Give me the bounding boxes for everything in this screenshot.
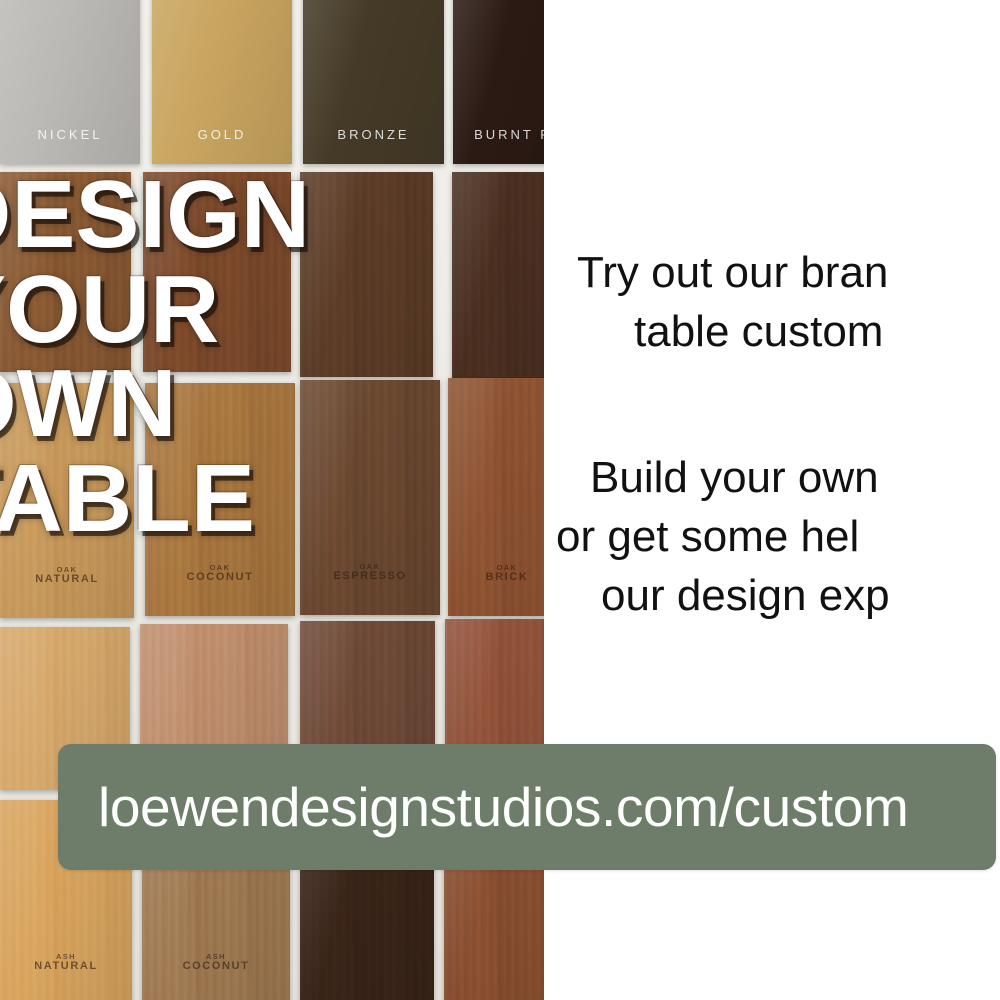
swatch-label-species: ASH	[0, 953, 132, 961]
swatch-label: OAKNATURAL	[0, 566, 134, 585]
headline-overlay: DESIGNYOUROWNTABLE	[0, 168, 402, 546]
copy1-line-1: Try out our bran	[544, 243, 1000, 302]
swatch-label: GOLD	[152, 128, 292, 142]
swatch-wood-row-3-4-oak-brick: OAKBRICK	[448, 378, 544, 616]
swatch-metal-row-2-gold: GOLD	[152, 0, 292, 164]
swatch-label-species: OAK	[300, 563, 440, 571]
swatch-label: OAKBRICK	[448, 564, 544, 583]
swatch-label-species: OAK	[0, 566, 134, 574]
headline-line-3: OWN	[0, 357, 402, 452]
swatch-metal-row-4-burnt-p: BURNT P	[453, 0, 544, 164]
swatch-label: NICKEL	[0, 128, 140, 142]
swatch-label-species: ASH	[142, 953, 290, 961]
surface-sheen	[452, 172, 544, 380]
copy2-line-1: Build your own	[544, 448, 1000, 507]
headline-line-2: YOUR	[0, 263, 402, 358]
swatch-label: BRONZE	[303, 128, 444, 142]
copy-paragraph-2: Build your ownor get some helour design …	[544, 448, 1000, 625]
swatch-label-species: OAK	[448, 564, 544, 572]
swatch-label: OAKESPRESSO	[300, 563, 440, 582]
copy2-line-3: our design exp	[544, 566, 1000, 625]
url-banner[interactable]: loewendesignstudios.com/custom	[58, 744, 996, 870]
swatch-metal-row-3-bronze: BRONZE	[303, 0, 444, 164]
swatch-label: ASHNATURAL	[0, 953, 132, 972]
headline-line-1: DESIGN	[0, 168, 402, 263]
headline-line-4: TABLE	[0, 452, 402, 547]
swatch-label-species: OAK	[145, 564, 295, 572]
copy2-line-2: or get some hel	[544, 507, 1000, 566]
swatch-label: BURNT P	[453, 128, 544, 142]
url-text: loewendesignstudios.com/custom	[58, 775, 908, 839]
swatch-metal-row-1-nickel: NICKEL	[0, 0, 140, 164]
copy-paragraph-1: Try out our brantable custom	[544, 243, 1000, 361]
swatch-wood-row-2-4-blank	[452, 172, 544, 380]
swatch-label: OAKCOCONUT	[145, 564, 295, 583]
advertisement-creative: NICKELGOLDBRONZEBURNT POAKNATURALOAKCOCO…	[0, 0, 1000, 1000]
swatch-label: ASHCOCONUT	[142, 953, 290, 972]
copy1-line-2: table custom	[544, 302, 1000, 361]
